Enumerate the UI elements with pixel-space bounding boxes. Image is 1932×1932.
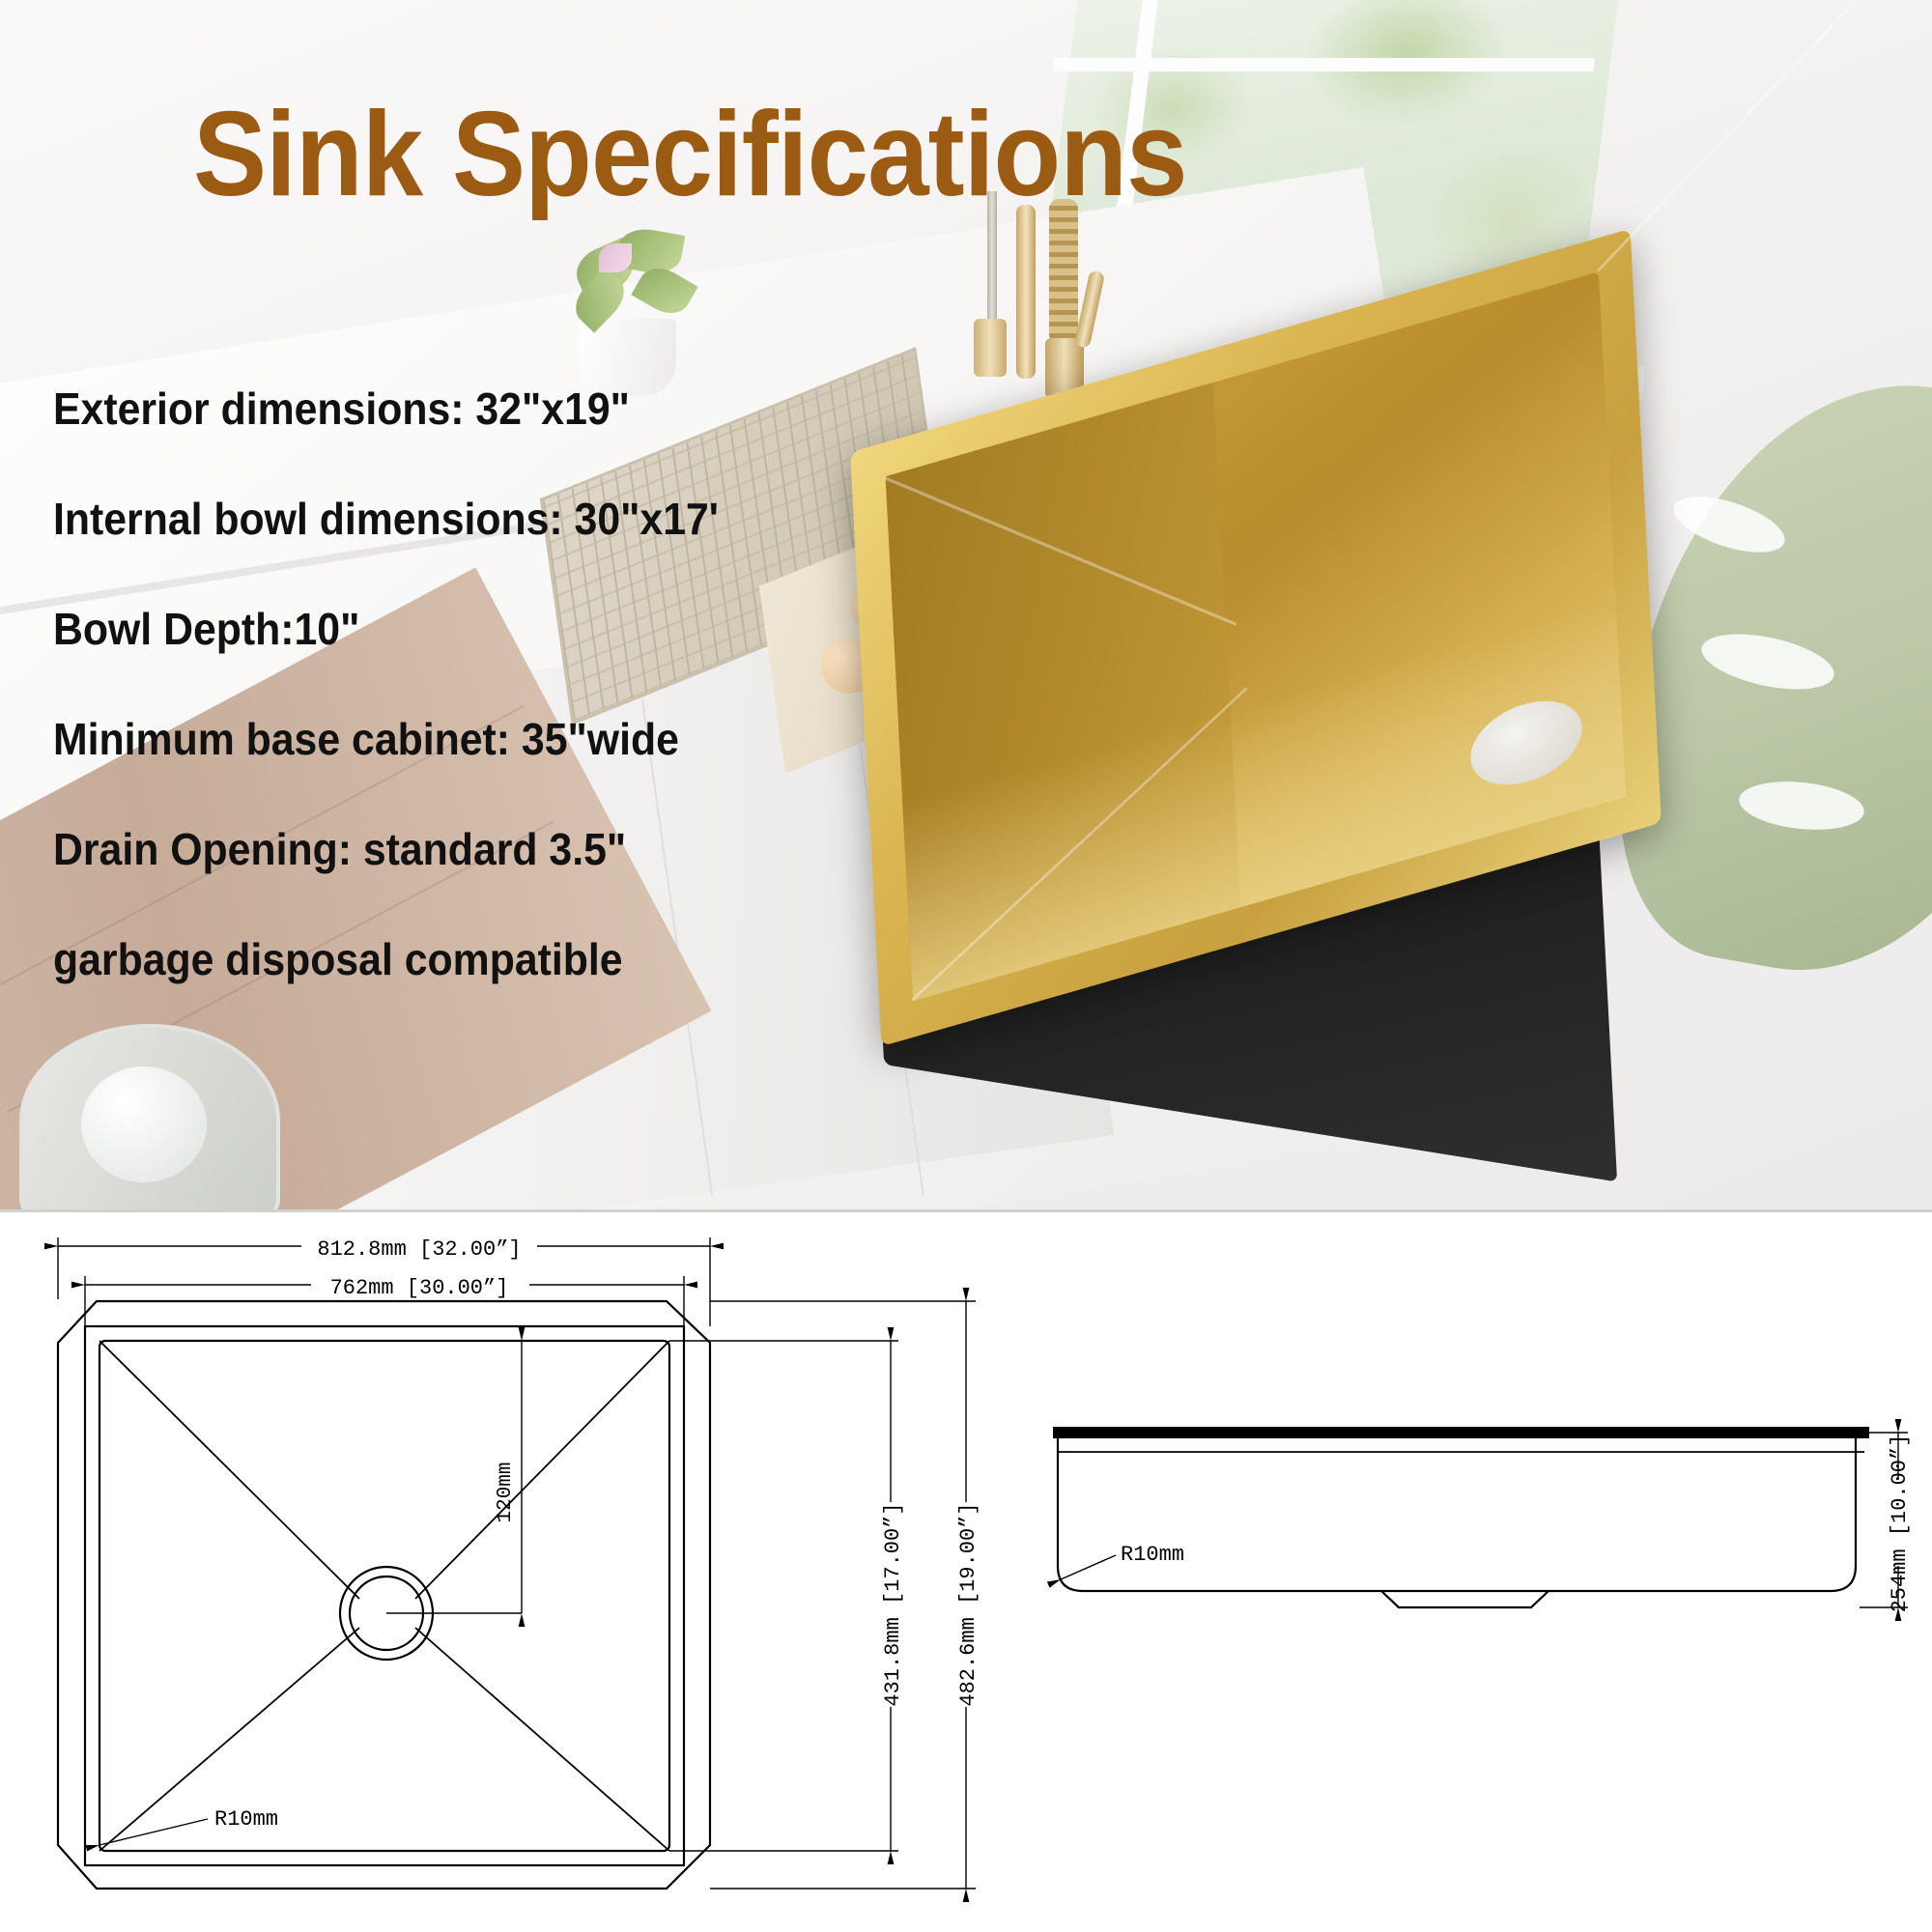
- top-view-drawing: [58, 1301, 710, 1889]
- dim-label-overall-width: 812.8mm [32.00”]: [317, 1237, 521, 1262]
- dim-label-bowl-width: 762mm [30.00”]: [330, 1276, 509, 1300]
- spec-internal-bowl-dimensions: Internal bowl dimensions: 30"x17': [53, 497, 970, 541]
- faucet-base: [974, 319, 1007, 377]
- top-view-bowl-opening: [99, 1341, 669, 1851]
- callout-corner-radius-side-view: [1061, 1555, 1116, 1579]
- plant-flower: [599, 243, 632, 272]
- jar-highlight: [81, 1066, 207, 1182]
- page-title: Sink Specifications: [193, 95, 1187, 214]
- faucet-neck: [1016, 205, 1036, 379]
- technical-drawing-panel: 812.8mm [32.00”] 762mm [30.00”] 120mm: [0, 1212, 1932, 1932]
- spec-garbage-disposal: garbage disposal compatible: [53, 937, 970, 981]
- spec-exterior-dimensions: Exterior dimensions: 32"x19": [53, 386, 970, 431]
- callout-corner-radius-top-view: [99, 1819, 208, 1845]
- dim-label-overall-depth-fb: 482.6mm [19.00”]: [956, 1502, 980, 1706]
- top-view-bowl-slopes: [99, 1341, 669, 1851]
- side-view-drain-boss: [1381, 1591, 1548, 1607]
- spec-minimum-base-cabinet: Minimum base cabinet: 35"wide: [53, 717, 970, 761]
- side-view-bowl-profile: [1058, 1438, 1856, 1591]
- dim-label-side-bowl-depth: 254mm [10.00”]: [1888, 1435, 1912, 1613]
- callout-label-corner-radius-top-view: R10mm: [214, 1807, 278, 1832]
- dim-bowl-depth-fb: [669, 1341, 898, 1851]
- side-view-drawing: [1053, 1427, 1869, 1607]
- spec-drain-opening: Drain Opening: standard 3.5": [53, 827, 970, 871]
- spec-bowl-depth: Bowl Depth:10": [53, 607, 970, 651]
- product-photo: Sink Specifications Exterior dimensions:…: [0, 0, 1932, 1209]
- dim-label-drain-offset: 120mm: [495, 1462, 517, 1522]
- side-view-top-flange: [1053, 1427, 1869, 1438]
- dim-label-bowl-depth-fb: 431.8mm [17.00”]: [881, 1502, 905, 1706]
- dim-overall-depth-fb: [710, 1301, 976, 1889]
- callout-label-corner-radius-side-view: R10mm: [1121, 1543, 1184, 1567]
- sink-specification-page: Sink Specifications Exterior dimensions:…: [0, 0, 1932, 1932]
- window-mullion-horizontal: [1052, 58, 1595, 71]
- glass-jar: [19, 1024, 280, 1209]
- specification-list: Exterior dimensions: 32"x19" Internal bo…: [53, 386, 1038, 1047]
- technical-drawing-svg: 812.8mm [32.00”] 762mm [30.00”] 120mm: [0, 1212, 1932, 1932]
